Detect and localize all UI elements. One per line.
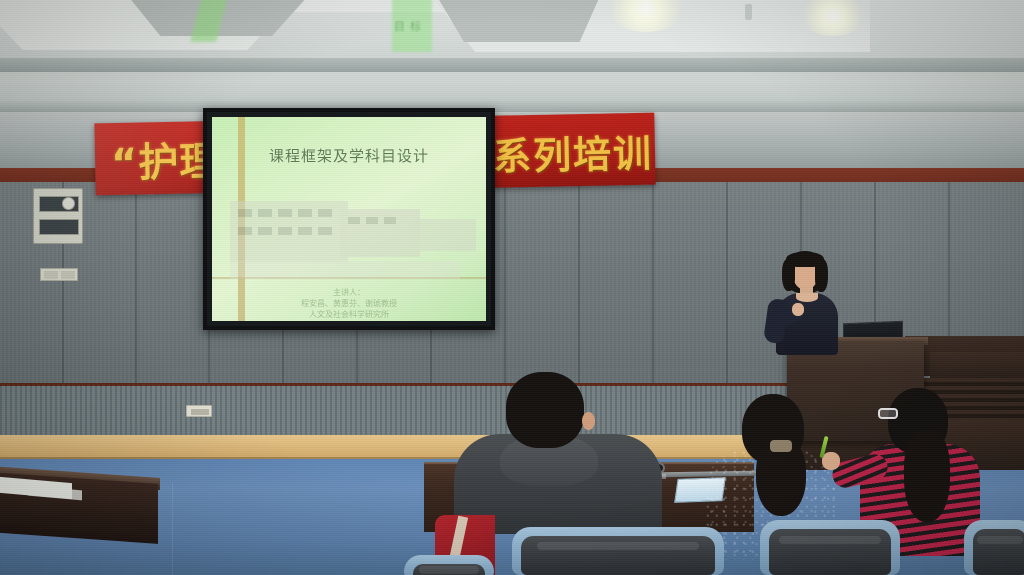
slide-subtitle-line-0: 主讲人： [212, 287, 486, 298]
banner-right-text: 系列培训 [492, 123, 653, 181]
presenter-hair-right [815, 259, 828, 292]
chair-3-pad [973, 529, 1024, 575]
attendee-hoodie-head [506, 372, 584, 448]
attendee-striped-ponytail [904, 430, 950, 522]
ceiling: 目 标 [0, 0, 1024, 112]
presenter-speaker [762, 251, 852, 351]
wall-power-outlet[interactable] [186, 405, 212, 417]
chair-4-pad [413, 564, 485, 575]
floor-seam-2 [172, 483, 173, 575]
wall-seam-8 [652, 182, 654, 385]
slide-subtitle: 主讲人： 程安昌、黄惠芬、谢琥教授 人文及社会科学研究所 香港教育学院 [212, 287, 486, 321]
lecture-hall-scene: 目 标 “护理 系列培训 课程框架及学科目设计 [0, 0, 1024, 575]
wall-seam-7 [578, 182, 580, 385]
slide-title: 课程框架及学科目设计 [212, 145, 486, 166]
light-switch-plate[interactable] [40, 268, 78, 281]
slide-subtitle-line-3: 香港教育学院 [212, 320, 486, 321]
chair-1-pad [521, 536, 715, 575]
projector-screen: 课程框架及学科目设计 [203, 108, 495, 330]
presenter-hair-left [782, 259, 795, 291]
control-slot-2[interactable] [39, 219, 79, 235]
chair-2-pad [769, 529, 891, 575]
slide-subtitle-line-1: 程安昌、黄惠芬、谢琥教授 [212, 298, 486, 309]
chair-1[interactable] [512, 527, 724, 575]
sprinkler-icon [745, 4, 752, 20]
ceiling-soffit [0, 80, 1024, 112]
presenter-hand [792, 303, 804, 316]
chair-4[interactable] [404, 555, 494, 575]
attendee-striped-hand [822, 452, 840, 470]
ceiling-recess-right [430, 0, 600, 42]
glasses-icon [878, 408, 898, 419]
wall-seam-6 [504, 182, 506, 385]
wall-seam-9 [726, 182, 728, 385]
presenter-collar [796, 293, 818, 302]
ceiling-beam [0, 58, 1024, 72]
slide-subtitle-line-2: 人文及社会科学研究所 [212, 309, 486, 320]
attendee-hoodie [492, 372, 662, 552]
attendee-beige-hair-clip [770, 440, 792, 452]
slide-campus-photo [230, 179, 480, 279]
control-knob-icon[interactable] [62, 197, 75, 210]
wall-seam-1 [135, 182, 137, 385]
projector-spill-text: 目 标 [394, 18, 422, 34]
chair-3[interactable] [964, 520, 1024, 575]
av-wall-control-panel[interactable] [33, 188, 83, 244]
slide-surface: 课程框架及学科目设计 [212, 117, 486, 321]
ceiling-beam-highlight [0, 72, 1024, 80]
attendee-hoodie-ear [582, 412, 595, 430]
chair-2[interactable] [760, 520, 900, 575]
